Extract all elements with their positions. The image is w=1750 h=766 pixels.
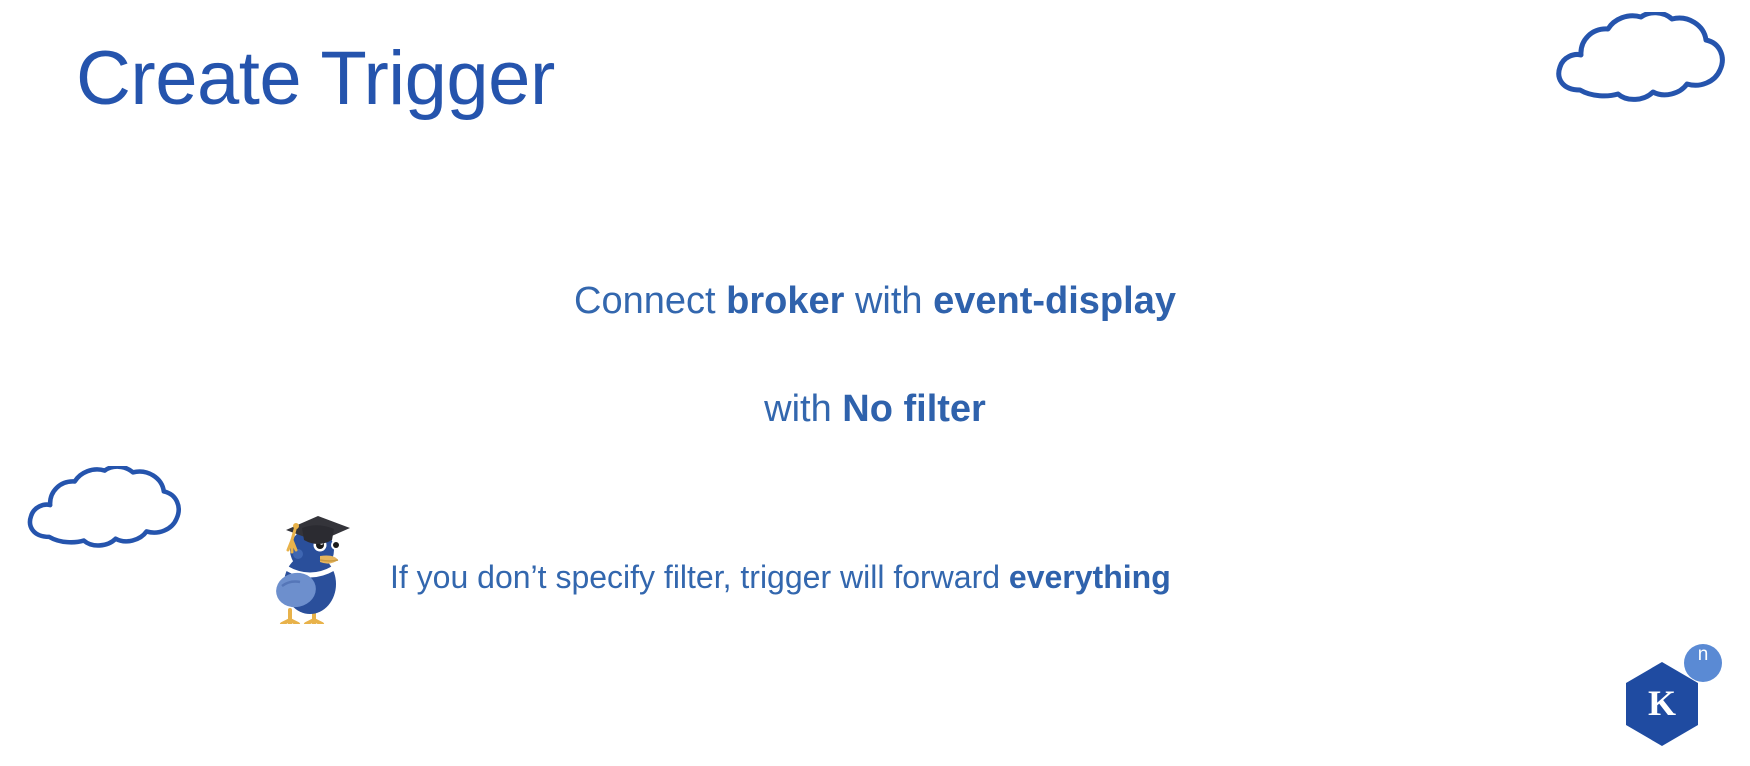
- connect-line-bold-broker: broker: [726, 280, 844, 322]
- cloud-icon-left: [22, 466, 182, 571]
- note-text-1: If you don’t specify filter, trigger wil…: [390, 559, 1009, 595]
- note-text: If you don’t specify filter, trigger wil…: [390, 559, 1171, 624]
- filter-line-bold-no-filter: No filter: [842, 388, 986, 430]
- slide-canvas: Create Trigger Connect broker with event…: [0, 0, 1750, 766]
- note-bold-everything: everything: [1009, 559, 1171, 595]
- note-row: If you don’t specify filter, trigger wil…: [268, 498, 1171, 624]
- connect-line-text-2: with: [844, 280, 933, 322]
- page-title: Create Trigger: [76, 36, 555, 121]
- connect-line: Connect broker with event-display: [0, 280, 1750, 323]
- filter-line: with No filter: [0, 388, 1750, 431]
- filter-line-text-1: with: [764, 388, 842, 430]
- connect-line-text-1: Connect: [574, 280, 726, 322]
- connect-line-bold-event-display: event-display: [933, 280, 1176, 322]
- graduate-bird-mascot-icon: [268, 498, 352, 624]
- knative-logo: K n: [1610, 638, 1728, 748]
- cloud-icon-top-right: [1550, 12, 1726, 127]
